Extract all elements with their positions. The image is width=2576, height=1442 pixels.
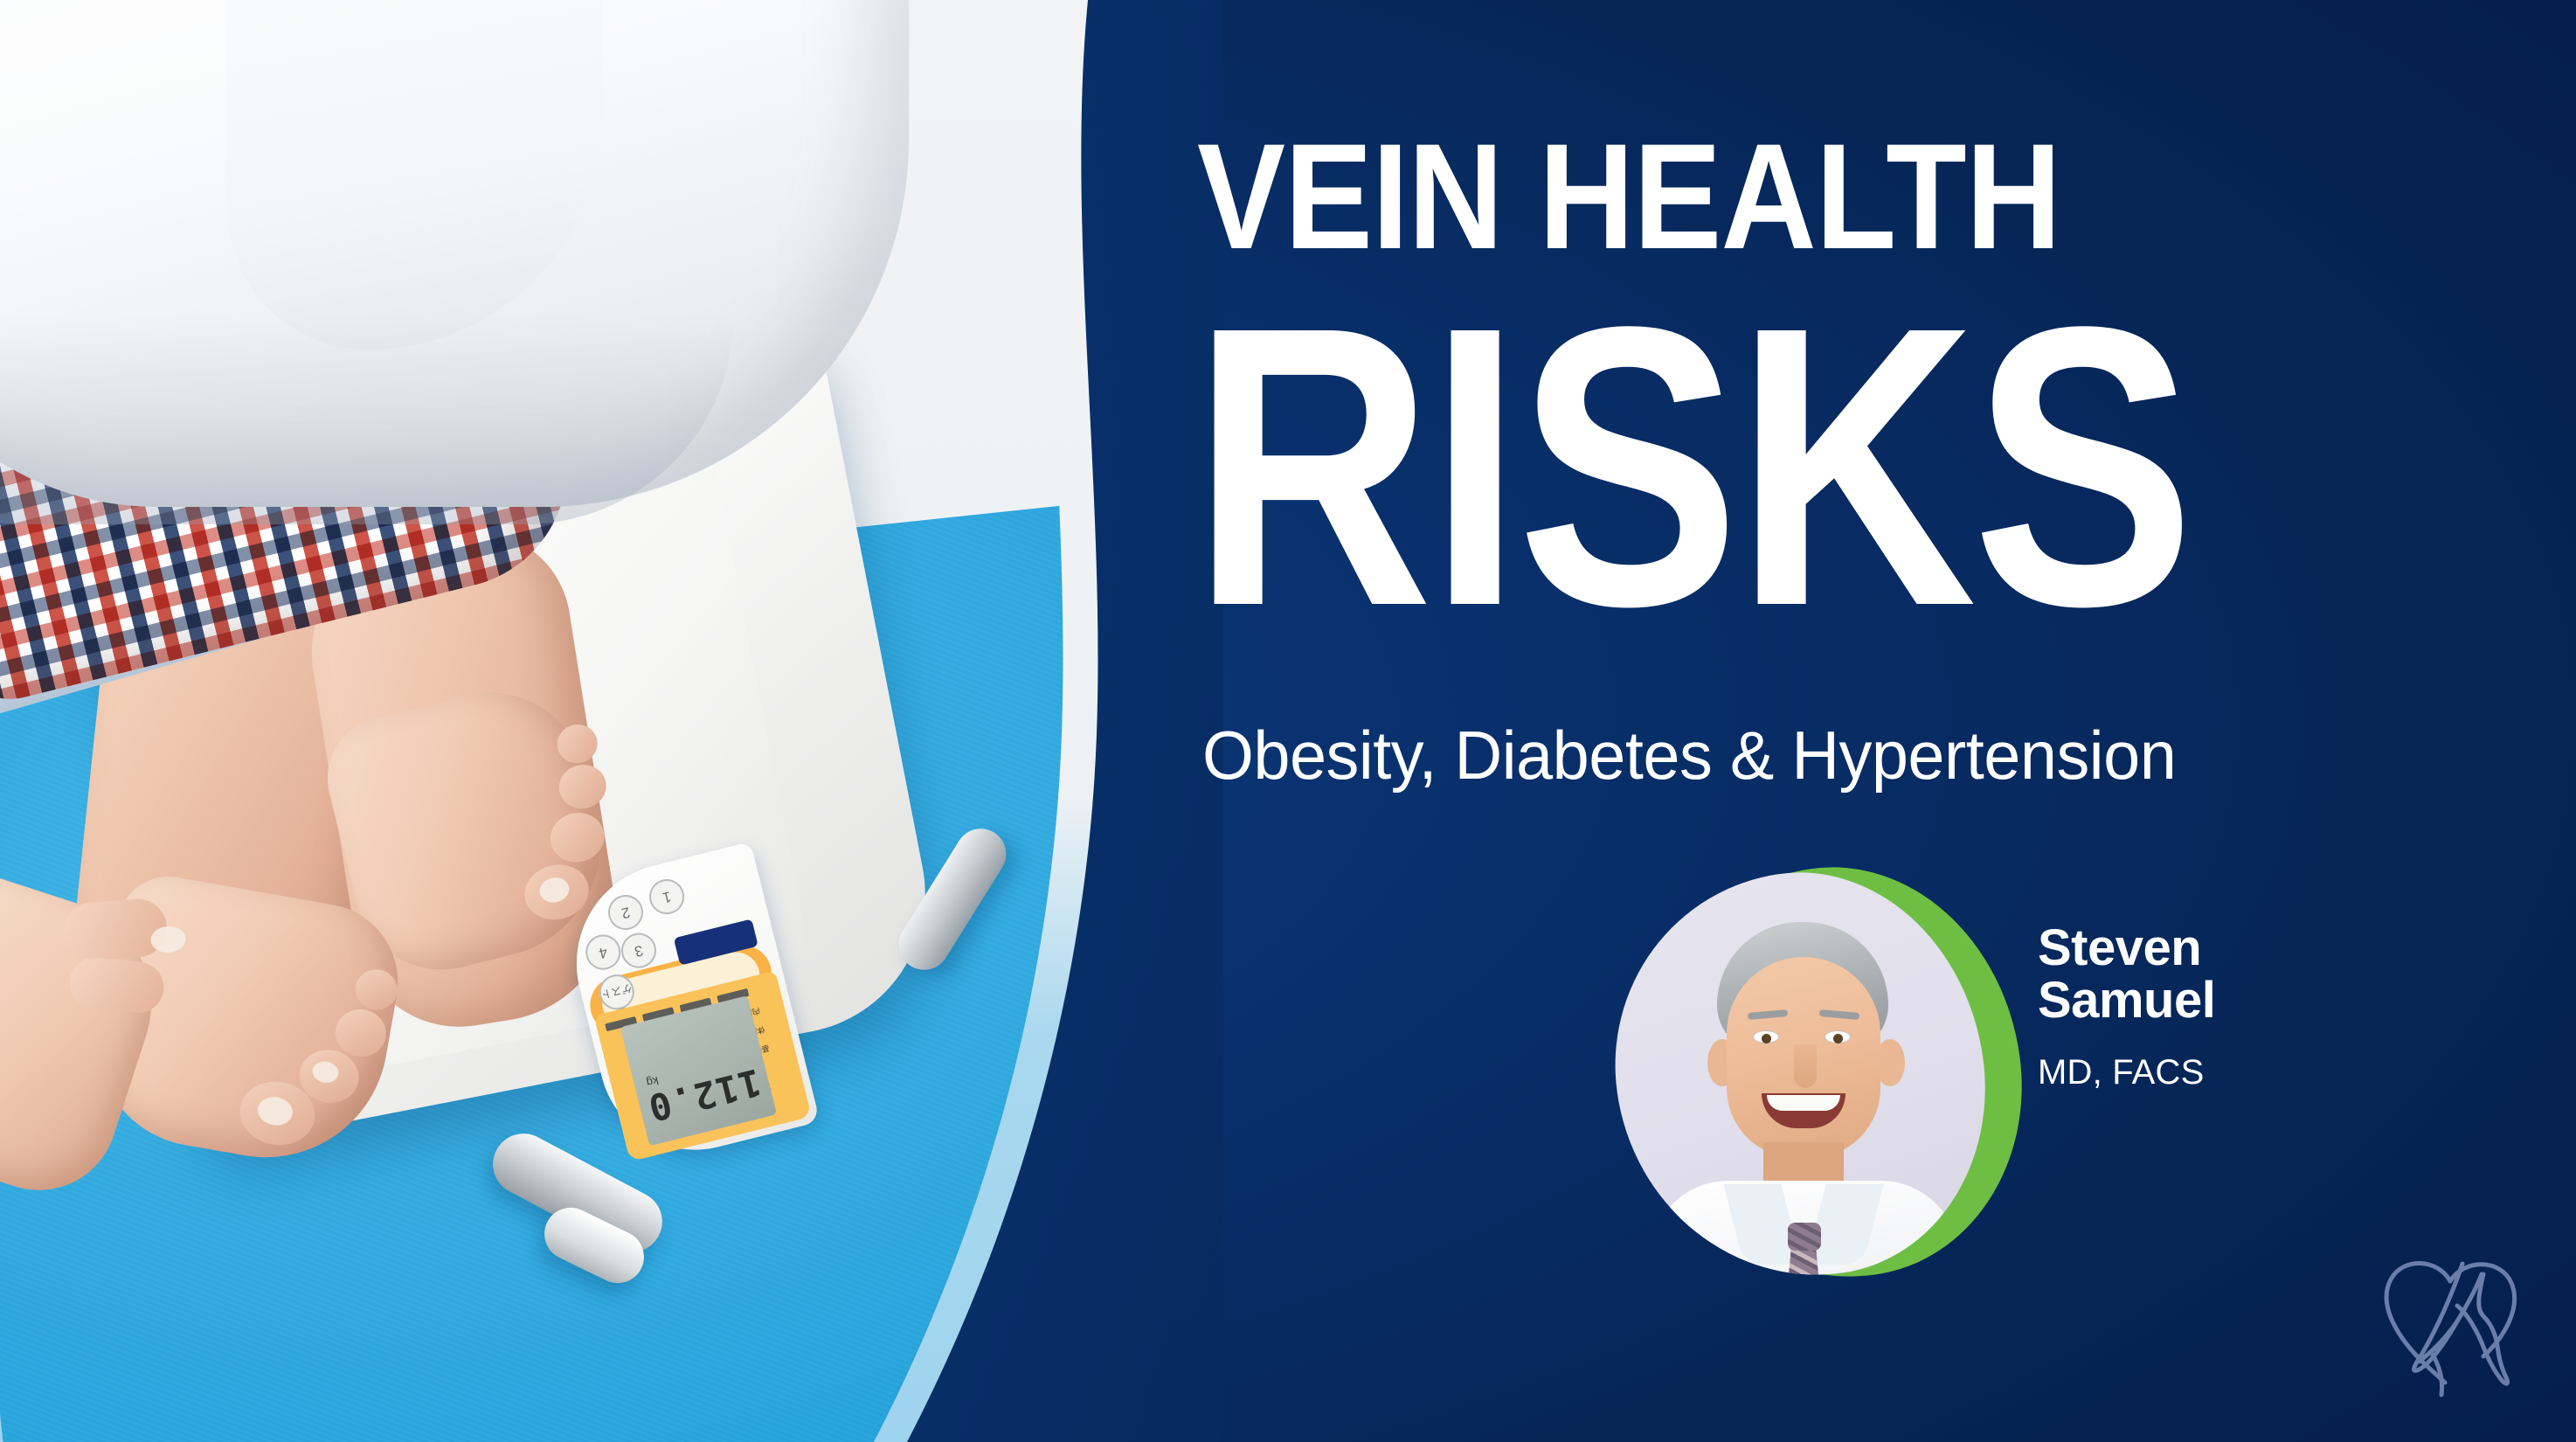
vein-health-risks-banner: 1 2 3 4 ゲスト 内臓脂肪 体脂肪率 基礎代謝 BMI 筋肉量: [0, 0, 2576, 1442]
doctor-eye-right: [1825, 1030, 1851, 1043]
doctor-last-name: Samuel: [2038, 974, 2492, 1027]
content-panel: VEIN HEALTH RISKS Obesity, Diabetes & Hy…: [1171, 0, 2576, 1442]
doctor-credentials: MD, FACS: [2038, 1053, 2492, 1092]
avatar: [1590, 849, 2010, 1300]
necktie-knot: [1788, 1223, 1821, 1251]
doctor-portrait-illustration: [1617, 873, 1984, 1277]
heart-with-legs-logo-icon: [2347, 1224, 2557, 1433]
shirt-fold: [227, 0, 603, 350]
shirt-shadow: [0, 315, 734, 524]
doctor-pupil: [1762, 1034, 1771, 1043]
doctor-name: Steven Samuel: [2038, 922, 2492, 1028]
obesity-scale-photo: 1 2 3 4 ゲスト 内臓脂肪 体脂肪率 基礎代謝 BMI 筋肉量: [0, 0, 1101, 1442]
scale-weight-reading: 112.0: [642, 1060, 766, 1130]
doctor-eye-left: [1753, 1030, 1779, 1043]
memory-button-1: 1: [646, 876, 688, 918]
toe: [352, 967, 400, 1014]
memory-button-2: 2: [605, 891, 647, 933]
photo-scene: 1 2 3 4 ゲスト 内臓脂肪 体脂肪率 基礎代謝 BMI 筋肉量: [0, 0, 1101, 1442]
doctor-teeth: [1767, 1095, 1840, 1111]
memory-button-4: 4: [582, 931, 624, 973]
memory-button-3: 3: [618, 929, 660, 971]
page-title-line-2: RISKS: [1192, 288, 2278, 647]
doctor-pupil: [1833, 1034, 1843, 1043]
finger: [62, 898, 169, 962]
doctor-nose: [1794, 1044, 1817, 1088]
subtitle: Obesity, Diabetes & Hypertension: [1202, 721, 2440, 789]
doctor-first-name: Steven: [2038, 922, 2492, 974]
